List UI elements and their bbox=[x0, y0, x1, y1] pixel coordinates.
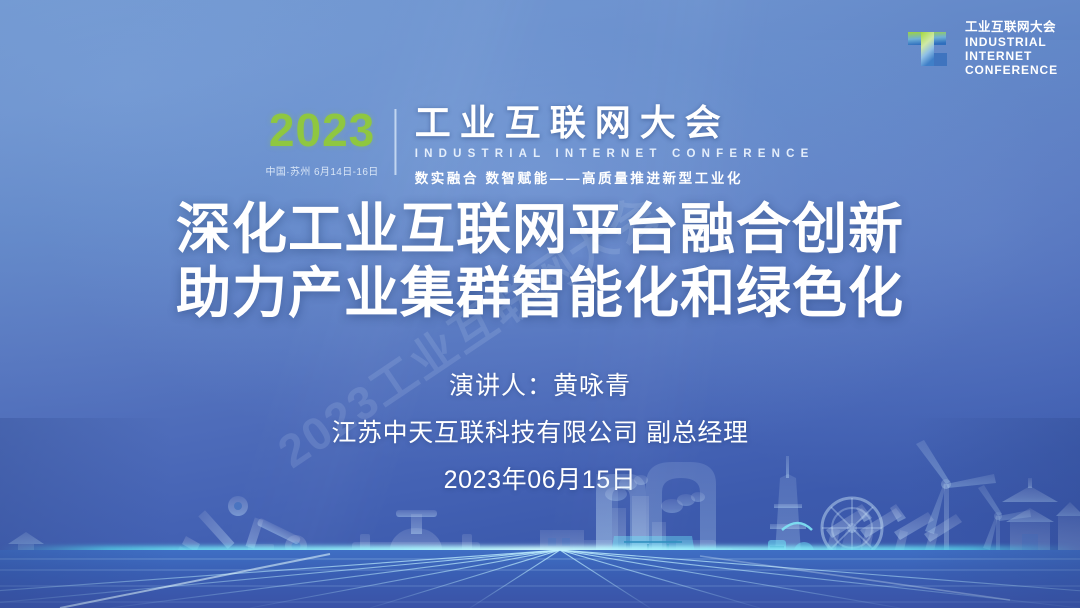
slide-headline: 深化工业互联网平台融合创新 助力产业集群智能化和绿色化 bbox=[0, 198, 1080, 326]
factory-icon bbox=[540, 496, 666, 568]
warehouse-icon bbox=[1000, 568, 1080, 594]
corner-logo-en-line2: INTERNET bbox=[965, 49, 1058, 63]
conference-year-block: 2023 中国·苏州 6月14日-16日 bbox=[265, 105, 394, 187]
warehouse-icon bbox=[1056, 502, 1080, 568]
conference-title-block: 工业互联网大会 INDUSTRIAL INTERNET CONFERENCE 数… bbox=[397, 105, 815, 187]
speaker-name: 演讲人：黄咏青 bbox=[0, 366, 1080, 402]
corner-logo-cn-name: 工业互联网大会 bbox=[965, 20, 1058, 35]
train-icon bbox=[844, 562, 974, 597]
ferris-wheel-icon bbox=[822, 498, 882, 568]
corner-logo-text: 工业互联网大会 INDUSTRIAL INTERNET CONFERENCE bbox=[965, 20, 1058, 77]
conference-title-cn: 工业互联网大会 bbox=[415, 105, 815, 141]
presentation-date: 2023年06月15日 bbox=[0, 460, 1080, 496]
conference-title-en: INDUSTRIAL INTERNET CONFERENCE bbox=[415, 148, 815, 160]
storage-tank-icon bbox=[768, 523, 814, 594]
speaker-block: 演讲人：黄咏青 江苏中天互联科技有限公司 副总经理 2023年06月15日 bbox=[0, 366, 1080, 496]
solar-panel-icon bbox=[700, 564, 754, 596]
headline-line-1: 深化工业互联网平台融合创新 bbox=[176, 198, 904, 260]
truck-icon bbox=[676, 540, 742, 575]
wind-turbine-icon bbox=[978, 485, 1031, 568]
conference-header-lockup: 2023 中国·苏州 6月14日-16日 工业互联网大会 INDUSTRIAL … bbox=[265, 105, 814, 187]
pipe-valve-icon bbox=[352, 510, 480, 572]
industrial-internet-conference-t-mark-icon bbox=[903, 23, 955, 75]
corner-logo-en-line3: CONFERENCE bbox=[965, 63, 1058, 77]
presentation-slide: 工业互联网大会 INDUSTRIAL INTERNET CONFERENCE 2… bbox=[0, 0, 1080, 608]
corner-logo: 工业互联网大会 INDUSTRIAL INTERNET CONFERENCE bbox=[903, 20, 1058, 77]
conference-location-date: 中国·苏州 6月14日-16日 bbox=[265, 163, 378, 178]
speaker-organization: 江苏中天互联科技有限公司 副总经理 bbox=[0, 413, 1080, 449]
robot-arm-icon bbox=[177, 496, 307, 560]
conference-year: 2023 bbox=[269, 107, 375, 153]
horizon-glow-line bbox=[0, 546, 1080, 556]
oil-pump-icon bbox=[822, 504, 962, 568]
conference-slogan: 数实融合 数智赋能——高质量推进新型工业化 bbox=[415, 167, 815, 187]
solar-panel-icon bbox=[608, 536, 698, 595]
pagoda-icon bbox=[8, 532, 44, 582]
perspective-floor-grid bbox=[0, 550, 1080, 608]
corner-logo-en-line1: INDUSTRIAL bbox=[965, 35, 1058, 49]
headline-line-2: 助力产业集群智能化和绿色化 bbox=[0, 262, 1080, 326]
